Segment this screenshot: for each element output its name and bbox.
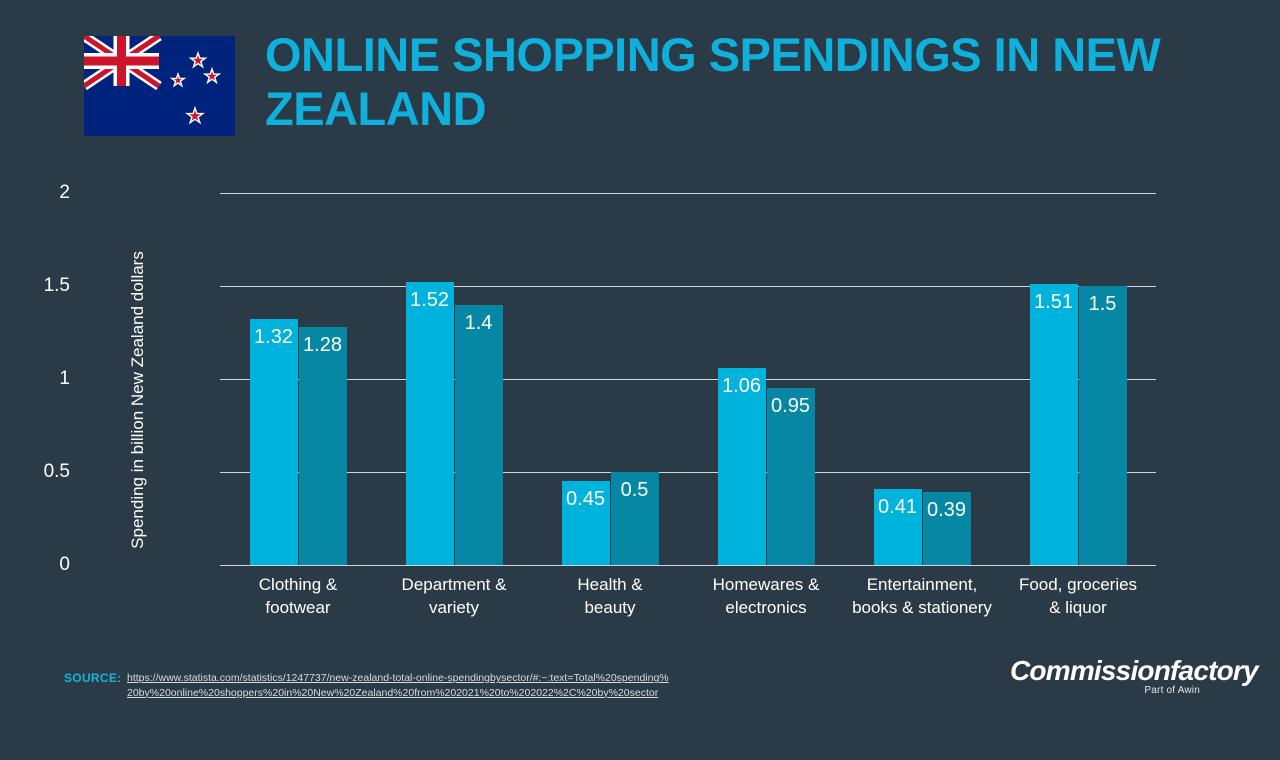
y-axis-tick-label: 0 xyxy=(10,554,70,576)
bar[interactable]: 1.4 xyxy=(455,305,503,565)
bar-chart: Spending in billion New Zealand dollars … xyxy=(0,165,1280,640)
footer: SOURCE: https://www.statista.com/statist… xyxy=(0,655,1280,760)
bar[interactable]: 0.41 xyxy=(874,489,922,565)
gridline xyxy=(220,472,1156,473)
plot-area: 00.511.52 1.321.281.521.40.450.51.060.95… xyxy=(220,193,1156,565)
bar-value-label: 1.06 xyxy=(718,375,766,397)
bar-group: 0.450.5 xyxy=(562,193,659,565)
logo-name: Commissionfactory xyxy=(1010,655,1220,687)
source-label: SOURCE: xyxy=(64,671,121,685)
commissionfactory-logo: Commissionfactory Part of Awin xyxy=(1010,655,1220,696)
bar-value-label: 0.39 xyxy=(923,499,971,521)
y-axis-tick-label: 1 xyxy=(10,368,70,390)
bar[interactable]: 0.39 xyxy=(923,492,971,565)
flag-svg xyxy=(84,36,235,136)
bar[interactable]: 0.95 xyxy=(767,388,815,565)
header: Online shopping spendings in New Zealand xyxy=(0,0,1280,165)
gridline xyxy=(220,565,1156,566)
bar-value-label: 1.5 xyxy=(1079,293,1127,315)
bar[interactable]: 0.45 xyxy=(562,481,610,565)
bar[interactable]: 1.28 xyxy=(299,327,347,565)
bar-value-label: 0.45 xyxy=(562,488,610,510)
bar-value-label: 0.41 xyxy=(874,496,922,518)
gridline xyxy=(220,379,1156,380)
x-axis-category-label: Food, groceries& liquor xyxy=(978,573,1178,619)
bar-value-label: 1.52 xyxy=(406,289,454,311)
y-axis-tick-label: 1.5 xyxy=(10,275,70,297)
bar-group: 1.511.5 xyxy=(1030,193,1127,565)
y-axis-tick-label: 2 xyxy=(10,182,70,204)
bar-group: 1.521.4 xyxy=(406,193,503,565)
bar-value-label: 1.28 xyxy=(299,334,347,356)
gridline xyxy=(220,286,1156,287)
bar[interactable]: 1.52 xyxy=(406,282,454,565)
y-axis-title: Spending in billion New Zealand dollars xyxy=(128,200,148,600)
page-title: Online shopping spendings in New Zealand xyxy=(265,28,1165,136)
bar[interactable]: 1.5 xyxy=(1079,286,1127,565)
new-zealand-flag-icon xyxy=(84,36,235,136)
bar-value-label: 1.4 xyxy=(455,312,503,334)
x-axis-category-line: Food, groceries xyxy=(978,573,1178,596)
bar-group: 0.410.39 xyxy=(874,193,971,565)
gridline xyxy=(220,193,1156,194)
x-axis-category-line: & liquor xyxy=(978,596,1178,619)
bar-group: 1.321.28 xyxy=(250,193,347,565)
bar-value-label: 1.51 xyxy=(1030,291,1078,313)
bar[interactable]: 1.32 xyxy=(250,319,298,565)
y-axis-tick-label: 0.5 xyxy=(10,461,70,483)
bar-value-label: 0.95 xyxy=(767,395,815,417)
source-url-link[interactable]: https://www.statista.com/statistics/1247… xyxy=(127,671,672,700)
bar-value-label: 1.32 xyxy=(250,326,298,348)
bar-value-label: 0.5 xyxy=(611,479,659,501)
bar[interactable]: 1.51 xyxy=(1030,284,1078,565)
bar[interactable]: 1.06 xyxy=(718,368,766,565)
bar[interactable]: 0.5 xyxy=(611,472,659,565)
bar-group: 1.060.95 xyxy=(718,193,815,565)
